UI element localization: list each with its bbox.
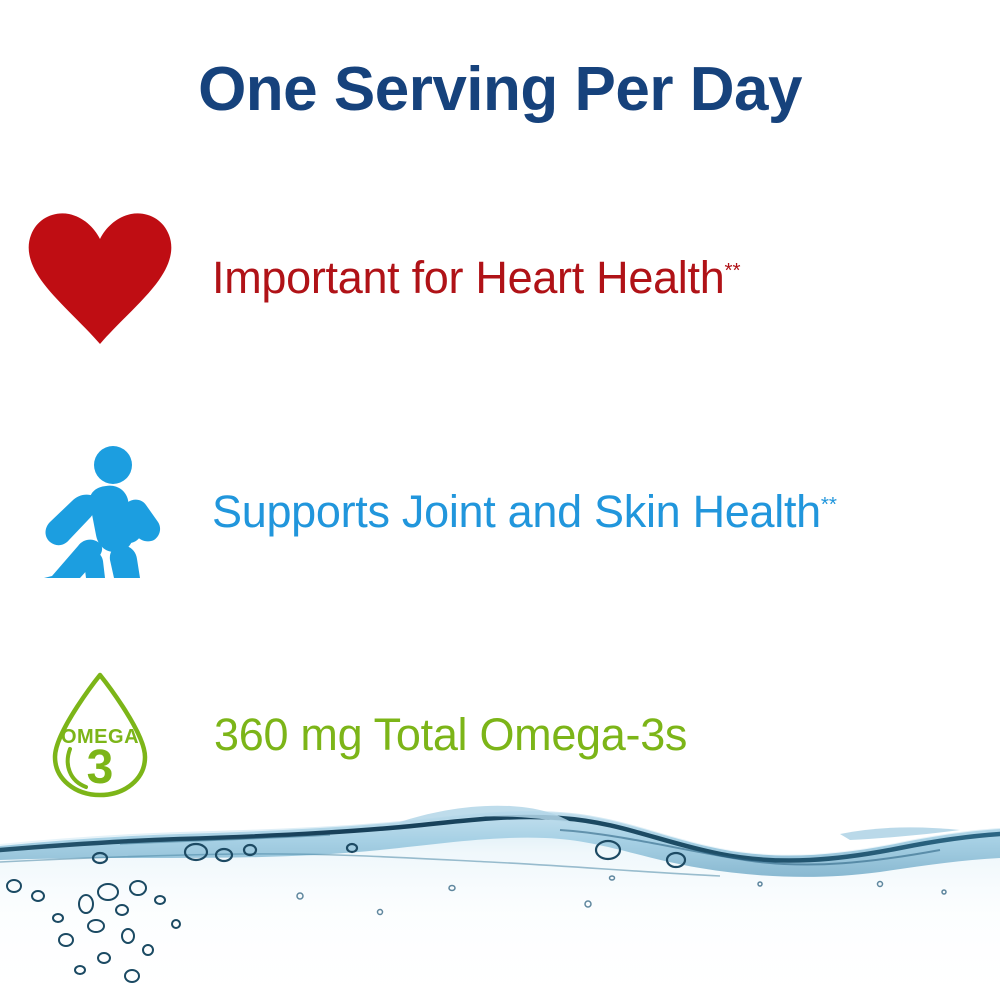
product-benefits-panel: One Serving Per Day Important for Heart …: [0, 0, 1000, 1000]
benefit-label-active: Supports Joint and Skin Health**: [212, 487, 837, 537]
benefit-text-active: Supports Joint and Skin Health: [212, 486, 821, 537]
benefit-label-omega: 360 mg Total Omega-3s: [214, 710, 687, 760]
benefit-row-omega: OMEGA 3 360 mg Total Omega-3s: [0, 660, 1000, 810]
benefit-text-heart: Important for Heart Health: [212, 252, 724, 303]
heart-icon: [0, 203, 200, 353]
page-title: One Serving Per Day: [0, 57, 1000, 122]
omega-3-droplet-icon: OMEGA 3: [0, 660, 200, 810]
omega-badge-number: 3: [87, 741, 114, 794]
benefit-row-active: Supports Joint and Skin Health**: [0, 437, 1000, 587]
benefit-label-heart: Important for Heart Health**: [212, 253, 741, 303]
footnote-marker-active: **: [821, 493, 837, 516]
footnote-marker-heart: **: [724, 259, 740, 282]
running-person-icon: [0, 437, 200, 587]
benefit-row-heart: Important for Heart Health**: [0, 203, 1000, 353]
water-surface-graphic: [0, 800, 1000, 1000]
benefit-text-omega: 360 mg Total Omega-3s: [214, 709, 687, 760]
